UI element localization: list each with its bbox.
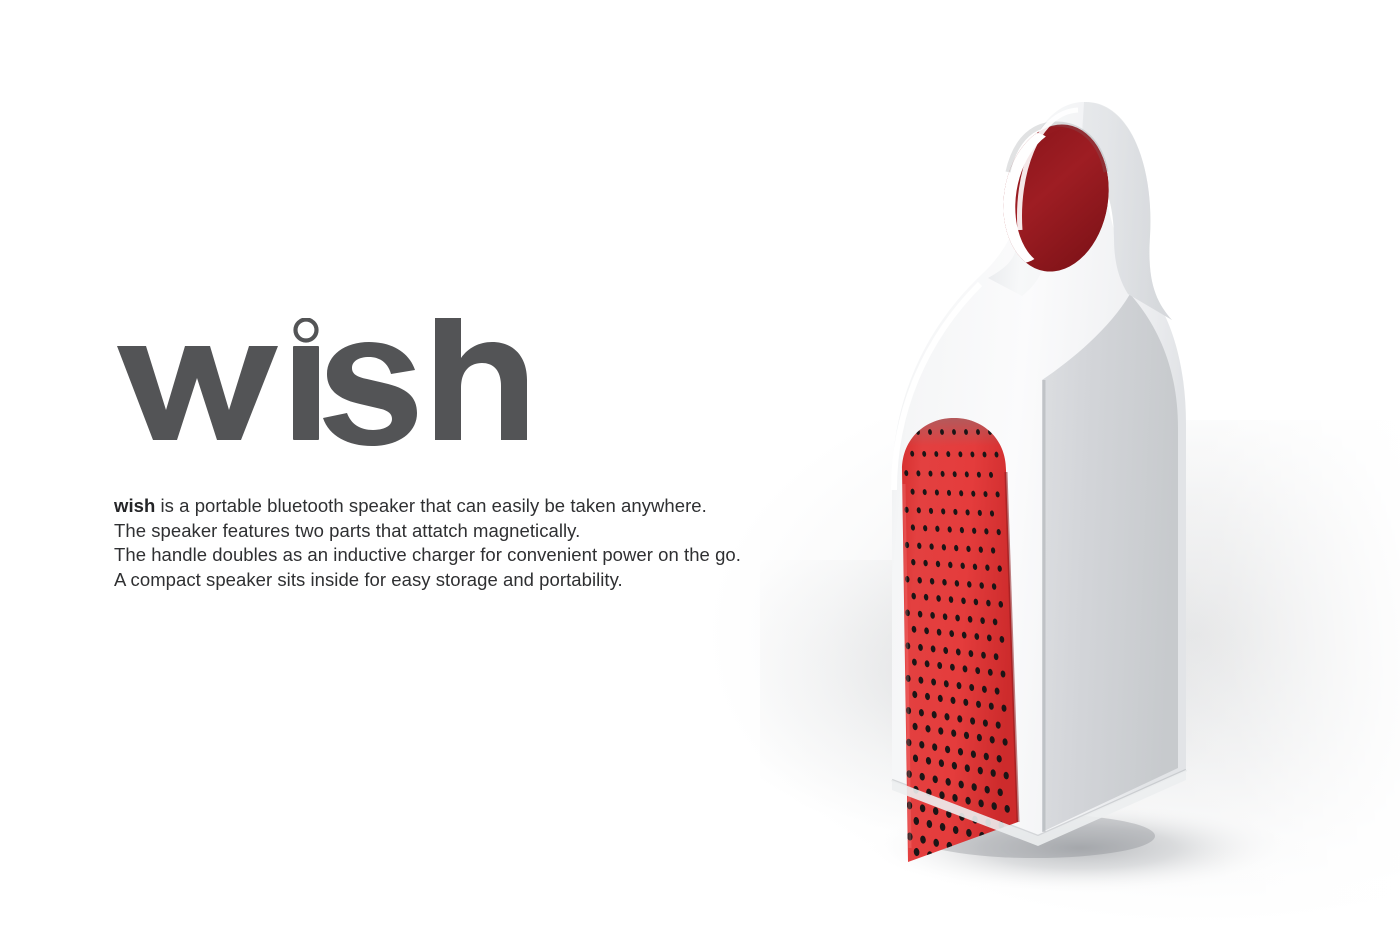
product-description: wish is a portable bluetooth speaker tha…	[114, 494, 874, 592]
description-lead-word: wish	[114, 495, 155, 516]
body-right-shaded-band	[1042, 294, 1178, 832]
brand-logo	[113, 318, 533, 448]
presentation-canvas: wish is a portable bluetooth speaker tha…	[0, 0, 1400, 931]
product-photo-speaker	[830, 80, 1300, 880]
description-line-1-rest: is a portable bluetooth speaker that can…	[155, 495, 707, 516]
logo-wordmark-glyphs	[117, 318, 527, 446]
description-line-4: A compact speaker sits inside for easy s…	[114, 568, 874, 593]
description-line-1: wish is a portable bluetooth speaker tha…	[114, 494, 874, 519]
logo-i-tittle-ring	[296, 320, 317, 341]
description-line-3: The handle doubles as an inductive charg…	[114, 543, 874, 568]
description-line-2: The speaker features two parts that atta…	[114, 519, 874, 544]
